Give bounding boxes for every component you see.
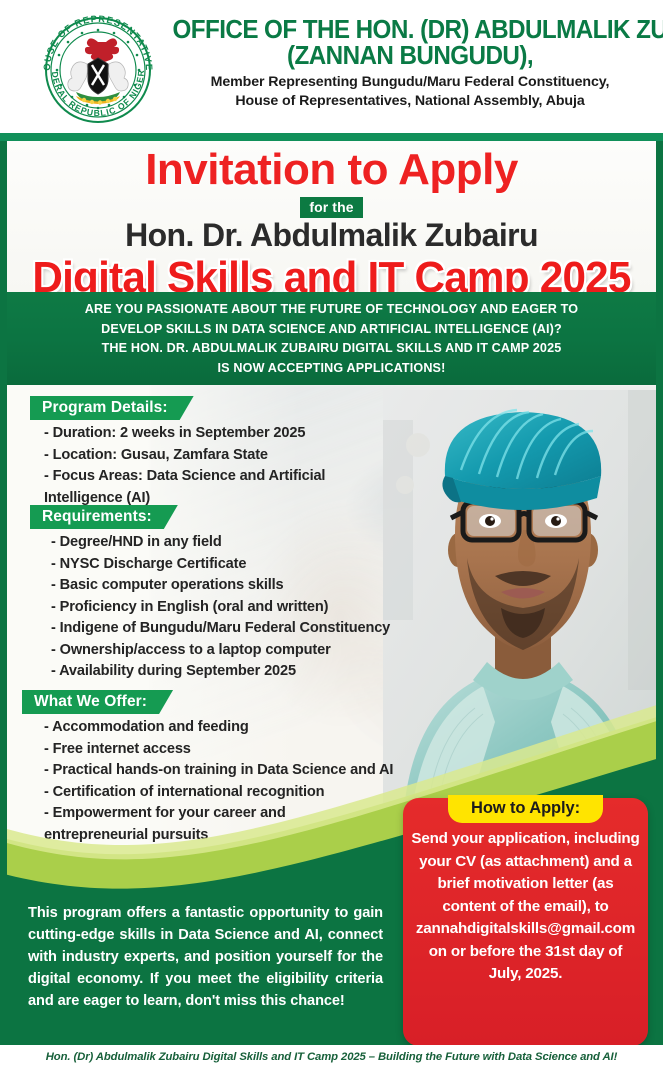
list-item: - Duration: 2 weeks in September 2025	[30, 423, 325, 445]
poster-footer: Hon. (Dr) Abdulmalik Zubairu Digital Ski…	[0, 1045, 663, 1080]
title-block: Invitation to Apply for the Hon. Dr. Abd…	[0, 141, 663, 292]
office-title-line2: (ZANNAN BUNGUDU),	[173, 43, 648, 70]
list-item: - Certification of international recogni…	[22, 782, 393, 804]
invitation-headline: Invitation to Apply	[0, 145, 663, 195]
list-item: entrepreneurial pursuits	[22, 825, 393, 847]
honorific-name: Hon. Dr. Abdulmalik Zubairu	[0, 217, 663, 254]
header-divider	[0, 133, 663, 141]
requirements-heading-ribbon: Requirements:	[30, 505, 390, 529]
header-title-group: OFFICE OF THE HON. (DR) ABDULMALIK ZUBAI…	[160, 18, 660, 110]
office-title-line1: OFFICE OF THE HON. (DR) ABDULMALIK ZUBAI…	[173, 18, 648, 43]
list-item: - Availability during September 2025	[30, 661, 390, 683]
for-the-badge: for the	[0, 197, 663, 218]
intro-line-1: ARE YOU PASSIONATE ABOUT THE FUTURE OF T…	[0, 300, 663, 320]
what-we-offer-heading: What We Offer:	[22, 690, 173, 714]
camp-title: Digital Skills and IT Camp 2025	[13, 253, 649, 292]
list-item: - Ownership/access to a laptop computer	[30, 640, 390, 662]
intro-line-3: THE HON. DR. ABDULMALIK ZUBAIRU DIGITAL …	[0, 339, 663, 359]
nigeria-house-of-representatives-seal-icon: HOUSE OF REPRESENTATIVES FEDERAL REPUBLI…	[32, 8, 164, 128]
program-details-heading: Program Details:	[30, 396, 194, 420]
member-line-2: House of Representatives, National Assem…	[160, 92, 660, 111]
section-requirements: Requirements: - Degree/HND in any field …	[30, 505, 390, 683]
right-green-edge	[656, 141, 663, 1045]
how-to-apply-card: How to Apply: Send your application, inc…	[403, 798, 648, 1046]
intro-line-2: DEVELOP SKILLS IN DATA SCIENCE AND ARTIF…	[0, 320, 663, 340]
left-green-edge	[0, 141, 7, 1045]
list-item: - Degree/HND in any field	[30, 532, 390, 554]
list-item: - Focus Areas: Data Science and Artifici…	[30, 466, 325, 488]
how-to-apply-heading: How to Apply:	[448, 795, 603, 823]
footer-tagline: Hon. (Dr) Abdulmalik Zubairu Digital Ski…	[46, 1051, 618, 1063]
for-the-label: for the	[300, 197, 362, 218]
list-item: - Accommodation and feeding	[22, 717, 393, 739]
list-item: - Empowerment for your career and	[22, 803, 393, 825]
list-item: - Free internet access	[22, 739, 393, 761]
how-to-apply-body: Send your application, including your CV…	[411, 828, 640, 986]
list-item: - Basic computer operations skills	[30, 575, 390, 597]
poster-header: HOUSE OF REPRESENTATIVES FEDERAL REPUBLI…	[0, 0, 663, 133]
program-details-heading-ribbon: Program Details:	[30, 396, 325, 420]
list-item: - NYSC Discharge Certificate	[30, 554, 390, 576]
closing-paragraph: This program offers a fantastic opportun…	[28, 902, 383, 1012]
member-line-1: Member Representing Bungudu/Maru Federal…	[160, 73, 660, 92]
list-item: - Practical hands-on training in Data Sc…	[22, 760, 393, 782]
requirements-heading: Requirements:	[30, 505, 178, 529]
section-what-we-offer: What We Offer: - Accommodation and feedi…	[22, 690, 393, 846]
what-we-offer-heading-ribbon: What We Offer:	[22, 690, 393, 714]
list-item: - Proficiency in English (oral and writt…	[30, 597, 390, 619]
section-program-details: Program Details: - Duration: 2 weeks in …	[30, 396, 325, 509]
list-item: - Location: Gusau, Zamfara State	[30, 445, 325, 467]
intro-line-4: IS NOW ACCEPTING APPLICATIONS!	[0, 359, 663, 379]
list-item: - Indigene of Bungudu/Maru Federal Const…	[30, 618, 390, 640]
avatar	[383, 390, 663, 820]
intro-banner: ARE YOU PASSIONATE ABOUT THE FUTURE OF T…	[0, 292, 663, 385]
poster-root: HOUSE OF REPRESENTATIVES FEDERAL REPUBLI…	[0, 0, 663, 1080]
